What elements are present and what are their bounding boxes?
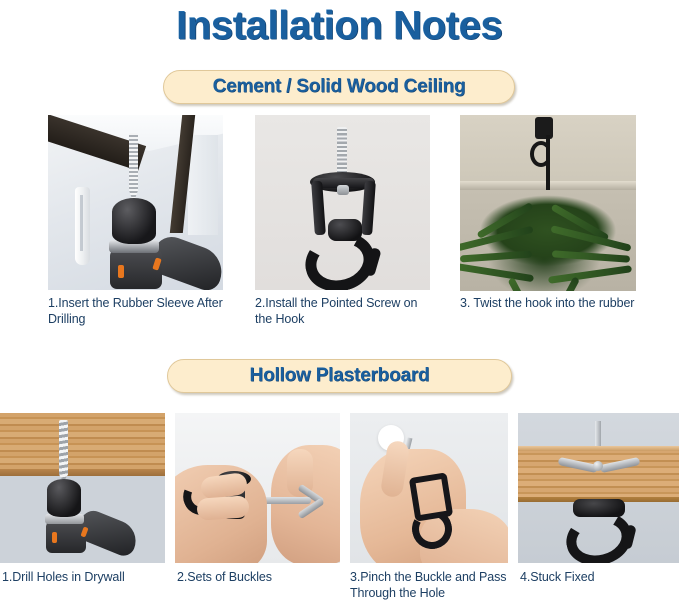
step-image-drill-holes-in-drywall [0, 413, 165, 563]
section-header-cement-solid-wood-ceiling: Cement / Solid Wood Ceiling [163, 70, 515, 104]
drill-illustration [47, 479, 81, 517]
rubber-sleeve-illustration [75, 187, 90, 265]
step-image-stuck-fixed [518, 413, 679, 563]
step-image-insert-rubber-sleeve [48, 115, 223, 290]
step-caption: 1.Insert the Rubber Sleeve After Drillin… [48, 296, 248, 327]
installation-notes-page: Installation Notes Cement / Solid Wood C… [0, 0, 679, 613]
fern-plant-illustration [460, 161, 636, 291]
step-caption: 2.Install the Pointed Screw on the Hook [255, 296, 435, 327]
step-caption: 1.Drill Holes in Drywall [2, 570, 167, 586]
screw-illustration [129, 133, 138, 203]
step-image-install-pointed-screw [255, 115, 430, 290]
drill-bit-illustration [59, 420, 68, 482]
step-image-sets-of-buckles [175, 413, 340, 563]
page-title: Installation Notes [0, 2, 679, 50]
step-caption: 3. Twist the hook into the rubber [460, 296, 660, 312]
drill-illustration [112, 198, 156, 244]
section-header-hollow-plasterboard: Hollow Plasterboard [167, 359, 512, 393]
section-header-label: Cement / Solid Wood Ceiling [213, 76, 466, 98]
step-caption: 2.Sets of Buckles [177, 570, 342, 586]
step-caption: 4.Stuck Fixed [520, 570, 679, 586]
step-image-pinch-buckle-pass-through-hole [350, 413, 508, 563]
step-image-twist-hook-into-rubber [460, 115, 636, 291]
section-header-label: Hollow Plasterboard [250, 365, 430, 387]
step-caption: 3.Pinch the Buckle and Pass Through the … [350, 570, 510, 601]
